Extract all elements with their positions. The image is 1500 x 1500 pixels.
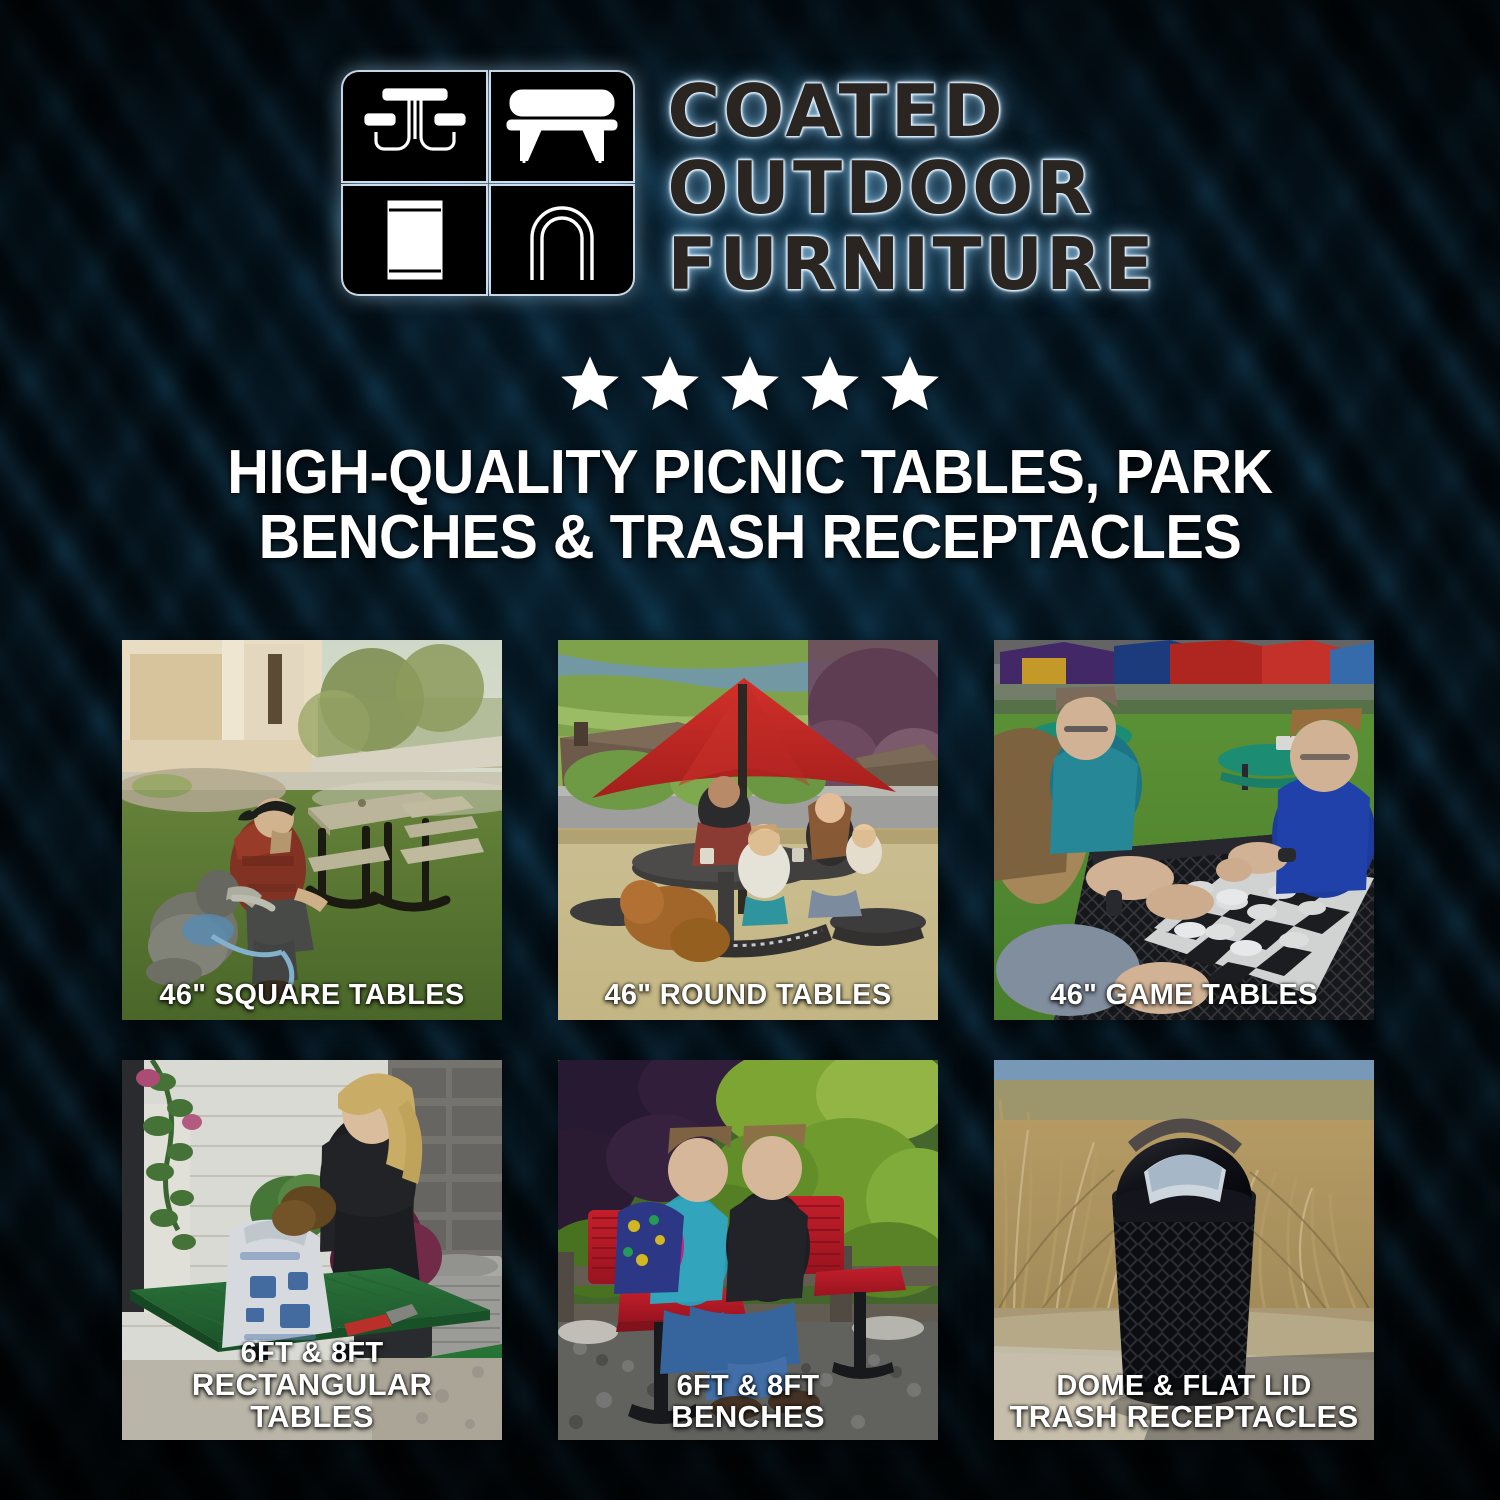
photo-game-table <box>994 640 1374 1020</box>
star-icon <box>557 352 623 416</box>
tile-caption: 6FT & 8FT BENCHES <box>564 1371 932 1434</box>
page-title: HIGH-QUALITY PICNIC TABLES, PARK BENCHES… <box>108 440 1391 570</box>
bench-side-icon <box>491 72 634 181</box>
headline-line-1: HIGH-QUALITY PICNIC TABLES, PARK <box>108 440 1391 505</box>
brand-logo-mark <box>343 72 633 294</box>
caption-line-2: TRASH RECEPTACLES <box>1000 1401 1368 1434</box>
product-tile-benches[interactable]: 6FT & 8FT BENCHES <box>558 1060 938 1440</box>
trash-receptacle-icon <box>343 186 486 295</box>
caption-line-1: 6FT & 8FT <box>241 1337 384 1369</box>
brand-line-2: OUTDOOR <box>667 153 1156 224</box>
headline-line-2: BENCHES & TRASH RECEPTACLES <box>108 505 1391 570</box>
picnic-table-icon <box>343 72 486 181</box>
product-tile-round-tables[interactable]: 46" ROUND TABLES <box>558 640 938 1020</box>
caption-line-2: RECTANGULAR TABLES <box>128 1369 496 1434</box>
product-tile-rectangular-tables[interactable]: 6FT & 8FT RECTANGULAR TABLES <box>122 1060 502 1440</box>
brand-header: COATED OUTDOOR FURNITURE <box>0 72 1500 300</box>
tile-caption: 46" ROUND TABLES <box>564 980 932 1010</box>
tile-caption: 46" GAME TABLES <box>1000 980 1368 1010</box>
caption-line-2: BENCHES <box>564 1401 932 1434</box>
bike-rack-icon <box>491 186 634 295</box>
product-grid: 46" SQUARE TABLES <box>122 640 1378 1440</box>
caption-line-1: 46" GAME TABLES <box>1050 979 1317 1011</box>
brand-line-1: COATED <box>667 76 1156 147</box>
caption-line-1: DOME & FLAT LID <box>1056 1370 1311 1402</box>
brand-line-3: FURNITURE <box>667 229 1156 300</box>
product-tile-game-tables[interactable]: 46" GAME TABLES <box>994 640 1374 1020</box>
promo-banner: COATED OUTDOOR FURNITURE HIGH-QUALITY PI… <box>0 0 1500 1500</box>
star-rating <box>0 352 1500 416</box>
brand-wordmark: COATED OUTDOOR FURNITURE <box>667 72 1156 300</box>
tile-caption: DOME & FLAT LID TRASH RECEPTACLES <box>1000 1371 1368 1434</box>
photo-square-table <box>122 640 502 1020</box>
product-tile-trash-receptacles[interactable]: DOME & FLAT LID TRASH RECEPTACLES <box>994 1060 1374 1440</box>
caption-line-1: 46" SQUARE TABLES <box>159 979 464 1011</box>
photo-round-table <box>558 640 938 1020</box>
star-icon <box>637 352 703 416</box>
caption-line-1: 6FT & 8FT <box>677 1370 820 1402</box>
star-icon <box>717 352 783 416</box>
star-icon <box>797 352 863 416</box>
product-tile-square-tables[interactable]: 46" SQUARE TABLES <box>122 640 502 1020</box>
caption-line-1: 46" ROUND TABLES <box>604 979 891 1011</box>
tile-caption: 46" SQUARE TABLES <box>128 980 496 1010</box>
star-icon <box>877 352 943 416</box>
tile-caption: 6FT & 8FT RECTANGULAR TABLES <box>128 1338 496 1434</box>
